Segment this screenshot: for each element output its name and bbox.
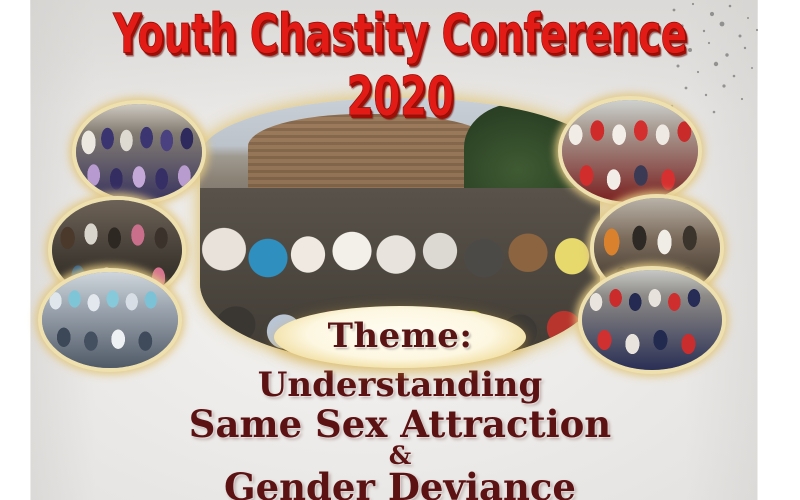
photo-bubble-bottom-left [38, 268, 182, 372]
theme-line-4: Gender Deviance [0, 469, 800, 500]
conference-poster: Youth Chastity Conference 2020 [0, 0, 800, 500]
photo-bubble-bottom-left-image [42, 272, 178, 368]
poster-heading: Youth Chastity Conference 2020 [0, 0, 800, 118]
theme-line-2: Same Sex Attraction [0, 406, 800, 443]
theme-badge: Theme: [274, 306, 526, 368]
conference-year: 2020 [28, 70, 772, 125]
conference-title: Youth Chastity Conference [28, 0, 772, 62]
theme-label: Theme: [328, 316, 473, 356]
theme-text-block: Understanding Same Sex Attraction & Gend… [0, 368, 800, 500]
photo-bubble-bottom-right [578, 266, 726, 374]
photo-bubble-bottom-right-image [582, 270, 722, 370]
theme-line-1: Understanding [0, 368, 800, 402]
